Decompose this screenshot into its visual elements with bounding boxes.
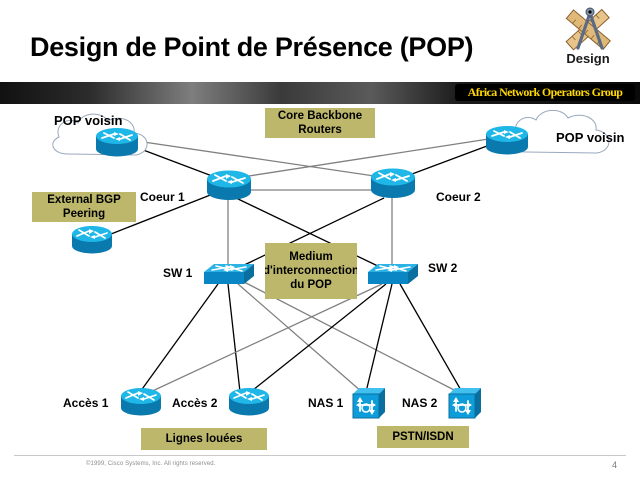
nas-1-label: NAS 1	[308, 396, 343, 410]
router-pop-voisin-left[interactable]	[92, 126, 142, 158]
router-acces-2-label: Accès 2	[172, 396, 217, 410]
callout-lignes-louees: Lignes louées	[141, 428, 267, 450]
router-acces-2[interactable]	[225, 386, 273, 417]
router-coeur-2-label: Coeur 2	[436, 190, 481, 204]
router-acces-1-label: Accès 1	[63, 396, 108, 410]
slide-canvas: Design de Point de Présence (POP)	[0, 0, 640, 480]
router-pop-voisin-right[interactable]	[482, 124, 532, 156]
switch-sw-1[interactable]	[200, 258, 258, 290]
pop-voisin-right-label: POP voisin	[556, 130, 624, 146]
switch-sw-2-label: SW 2	[428, 261, 457, 275]
router-acces-1[interactable]	[117, 386, 165, 417]
page-number: 4	[612, 460, 617, 470]
network-diagram: POP voisin POP voisin	[0, 0, 640, 480]
callout-medium-interconnection: Medium d'interconnection du POP	[265, 243, 357, 299]
nas-1[interactable]	[349, 384, 387, 420]
callout-external-bgp-peering: External BGP Peering	[32, 192, 136, 222]
router-bgp-peer[interactable]	[68, 224, 116, 255]
footer-divider	[14, 455, 626, 456]
copyright-text: ©1999, Cisco Systems, Inc. All rights re…	[86, 461, 216, 467]
switch-sw-2[interactable]	[364, 258, 422, 290]
callout-pstn-isdn: PSTN/ISDN	[377, 426, 469, 448]
callout-core-backbone-routers: Core Backbone Routers	[265, 108, 375, 138]
nas-2-label: NAS 2	[402, 396, 437, 410]
router-coeur-1[interactable]	[203, 168, 255, 202]
router-coeur-2[interactable]	[367, 166, 419, 200]
router-coeur-1-label: Coeur 1	[140, 190, 185, 204]
nas-2[interactable]	[445, 384, 483, 420]
switch-sw-1-label: SW 1	[163, 266, 192, 280]
